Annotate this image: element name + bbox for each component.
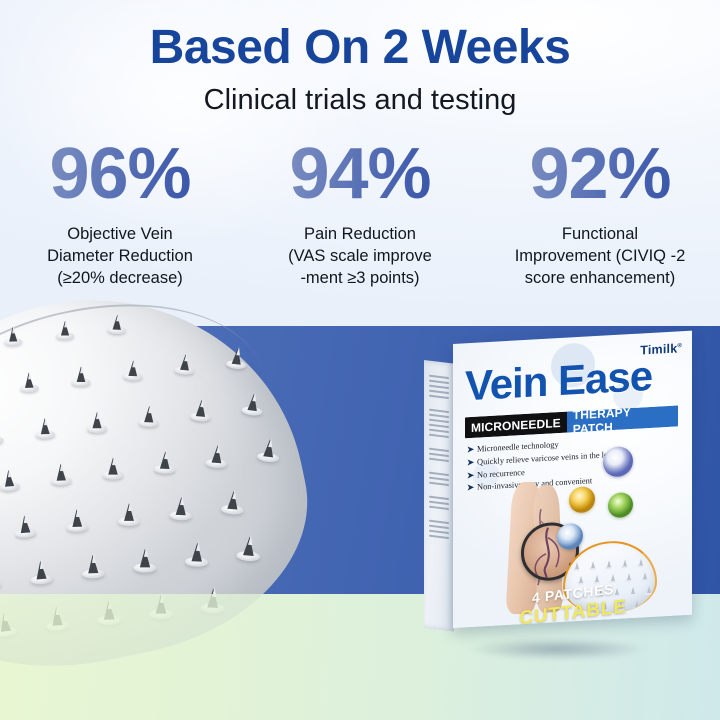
stat-value: 96% xyxy=(6,138,234,210)
side-panel-microtext xyxy=(429,375,449,542)
microneedle xyxy=(205,441,228,468)
microneedle xyxy=(0,466,20,491)
microneedle xyxy=(190,396,212,422)
microneedle xyxy=(154,448,176,474)
stats-row: 96% Objective Vein Diameter Reduction (≥… xyxy=(0,138,720,290)
header-panel: Based On 2 Weeks Clinical trials and tes… xyxy=(0,0,720,326)
microneedle xyxy=(50,460,72,485)
microneedle xyxy=(138,403,159,428)
microneedle-small xyxy=(637,557,644,567)
microneedle xyxy=(226,344,249,370)
microneedle xyxy=(87,409,107,433)
microneedle xyxy=(123,357,143,381)
microneedle xyxy=(169,493,192,520)
stat-value: 94% xyxy=(246,138,474,210)
microneedle xyxy=(66,506,89,532)
microneedle xyxy=(71,364,90,387)
stat-value: 92% xyxy=(486,138,714,210)
stat-caption: Functional Improvement (CIVIQ -2 score e… xyxy=(486,224,714,290)
microneedle xyxy=(257,435,282,463)
microneedle xyxy=(35,415,55,439)
box-side-panel xyxy=(424,360,454,632)
arrow-icon: ➤ xyxy=(467,458,474,467)
microneedle-small xyxy=(589,560,596,570)
box-shadow xyxy=(432,636,682,662)
microneedle xyxy=(221,487,245,515)
promo-image: Based On 2 Weeks Clinical trials and tes… xyxy=(0,0,720,720)
microneedle xyxy=(185,539,209,567)
microneedle xyxy=(241,390,265,417)
microneedle xyxy=(29,557,53,585)
microneedle xyxy=(236,532,262,562)
banner-microneedle: MICRONEEDLE xyxy=(465,412,567,439)
arrow-icon: ➤ xyxy=(467,483,474,492)
microneedle xyxy=(56,318,74,339)
microneedle-small xyxy=(573,561,580,571)
microneedle xyxy=(103,455,124,480)
microneedle-small xyxy=(605,559,612,569)
product-name: Vein Ease xyxy=(465,355,652,407)
stat-caption: Objective Vein Diameter Reduction (≥20% … xyxy=(6,224,234,290)
microneedle xyxy=(118,500,140,526)
stat-item: 96% Objective Vein Diameter Reduction (≥… xyxy=(0,138,240,290)
capsule-icon-green xyxy=(608,492,633,518)
stat-item: 94% Pain Reduction (VAS scale improve -m… xyxy=(240,138,480,290)
box-front-face: Timilk® Vein Ease MICRONEEDLE THERAPY PA… xyxy=(453,331,692,628)
page-title: Based On 2 Weeks xyxy=(0,24,720,72)
banner-therapy-patch: THERAPY PATCH xyxy=(567,405,678,432)
stat-item: 92% Functional Improvement (CIVIQ -2 sco… xyxy=(480,138,720,290)
microneedle xyxy=(107,312,126,335)
product-box: Timilk® Vein Ease MICRONEEDLE THERAPY PA… xyxy=(424,344,692,674)
microneedle xyxy=(13,512,36,539)
arrow-icon: ➤ xyxy=(467,445,474,454)
microneedle xyxy=(19,370,39,393)
microneedle xyxy=(134,545,157,572)
microneedle xyxy=(81,551,104,578)
microneedle xyxy=(4,324,23,346)
page-subtitle: Clinical trials and testing xyxy=(0,84,720,117)
arrow-icon: ➤ xyxy=(467,470,474,479)
capsule-icon-gold xyxy=(569,486,595,513)
microneedle-small xyxy=(621,558,628,568)
stat-caption: Pain Reduction (VAS scale improve -ment … xyxy=(246,224,474,290)
microneedle xyxy=(174,351,195,376)
